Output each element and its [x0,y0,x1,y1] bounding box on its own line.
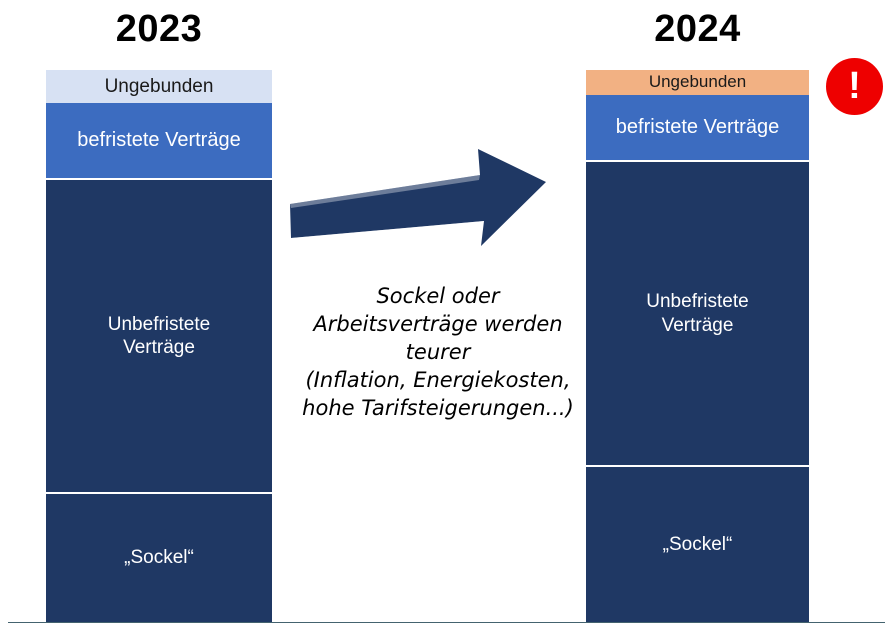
bar-segment-label: „Sockel“ [124,546,194,569]
page-title-2024: 2024 [586,10,809,48]
bar-segment-label-line1: Unbefristete [108,313,210,336]
bar-segment-label: Unbefristete Verträge [108,313,210,359]
bottom-divider [8,622,885,623]
bar-segment-label: Ungebunden [649,72,746,93]
bar-segment-2023-unbefristete-vertraege[interactable]: Unbefristete Verträge [46,180,272,492]
stacked-bar-2023: Ungebunden befristete Verträge Unbefrist… [46,70,272,622]
page-title-2023: 2023 [46,10,272,48]
center-note-line-4: (Inflation, Energiekosten, [288,367,588,395]
bar-segment-2024-ungebunden[interactable]: Ungebunden [586,70,809,95]
bar-segment-label: befristete Verträge [616,115,779,139]
bar-segment-2024-befristete-vertraege[interactable]: befristete Verträge [586,95,809,160]
center-note-line-2: Arbeitsverträge werden [288,311,588,339]
center-note-line-3: teurer [288,339,588,367]
center-note-line-1: Sockel oder [288,283,588,311]
slide-canvas: 2023 2024 Ungebunden befristete Verträge… [0,0,893,634]
stacked-bar-2024: Ungebunden befristete Verträge Unbefrist… [586,70,809,622]
bar-segment-label-line1: Unbefristete [646,290,748,313]
center-note: Sockel oder Arbeitsverträge werden teure… [288,283,588,423]
bar-segment-label: befristete Verträge [77,128,240,152]
bar-segment-2023-befristete-vertraege[interactable]: befristete Verträge [46,103,272,178]
bar-segment-2023-sockel[interactable]: „Sockel“ [46,494,272,622]
bar-segment-label: Ungebunden [105,75,214,98]
warning-exclamation-icon[interactable]: ! [826,58,883,115]
bar-segment-label-line2: Verträge [646,314,748,337]
bar-segment-2024-sockel[interactable]: „Sockel“ [586,467,809,622]
bar-segment-label-line2: Verträge [108,336,210,359]
bar-segment-2024-unbefristete-vertraege[interactable]: Unbefristete Verträge [586,162,809,465]
warning-exclamation-glyph: ! [848,67,861,105]
bar-segment-label: „Sockel“ [663,533,733,556]
right-arrow-icon [288,142,550,264]
bar-segment-2023-ungebunden[interactable]: Ungebunden [46,70,272,103]
center-note-line-5: hohe Tarifsteigerungen...) [288,395,588,423]
bar-segment-label: Unbefristete Verträge [646,290,748,336]
